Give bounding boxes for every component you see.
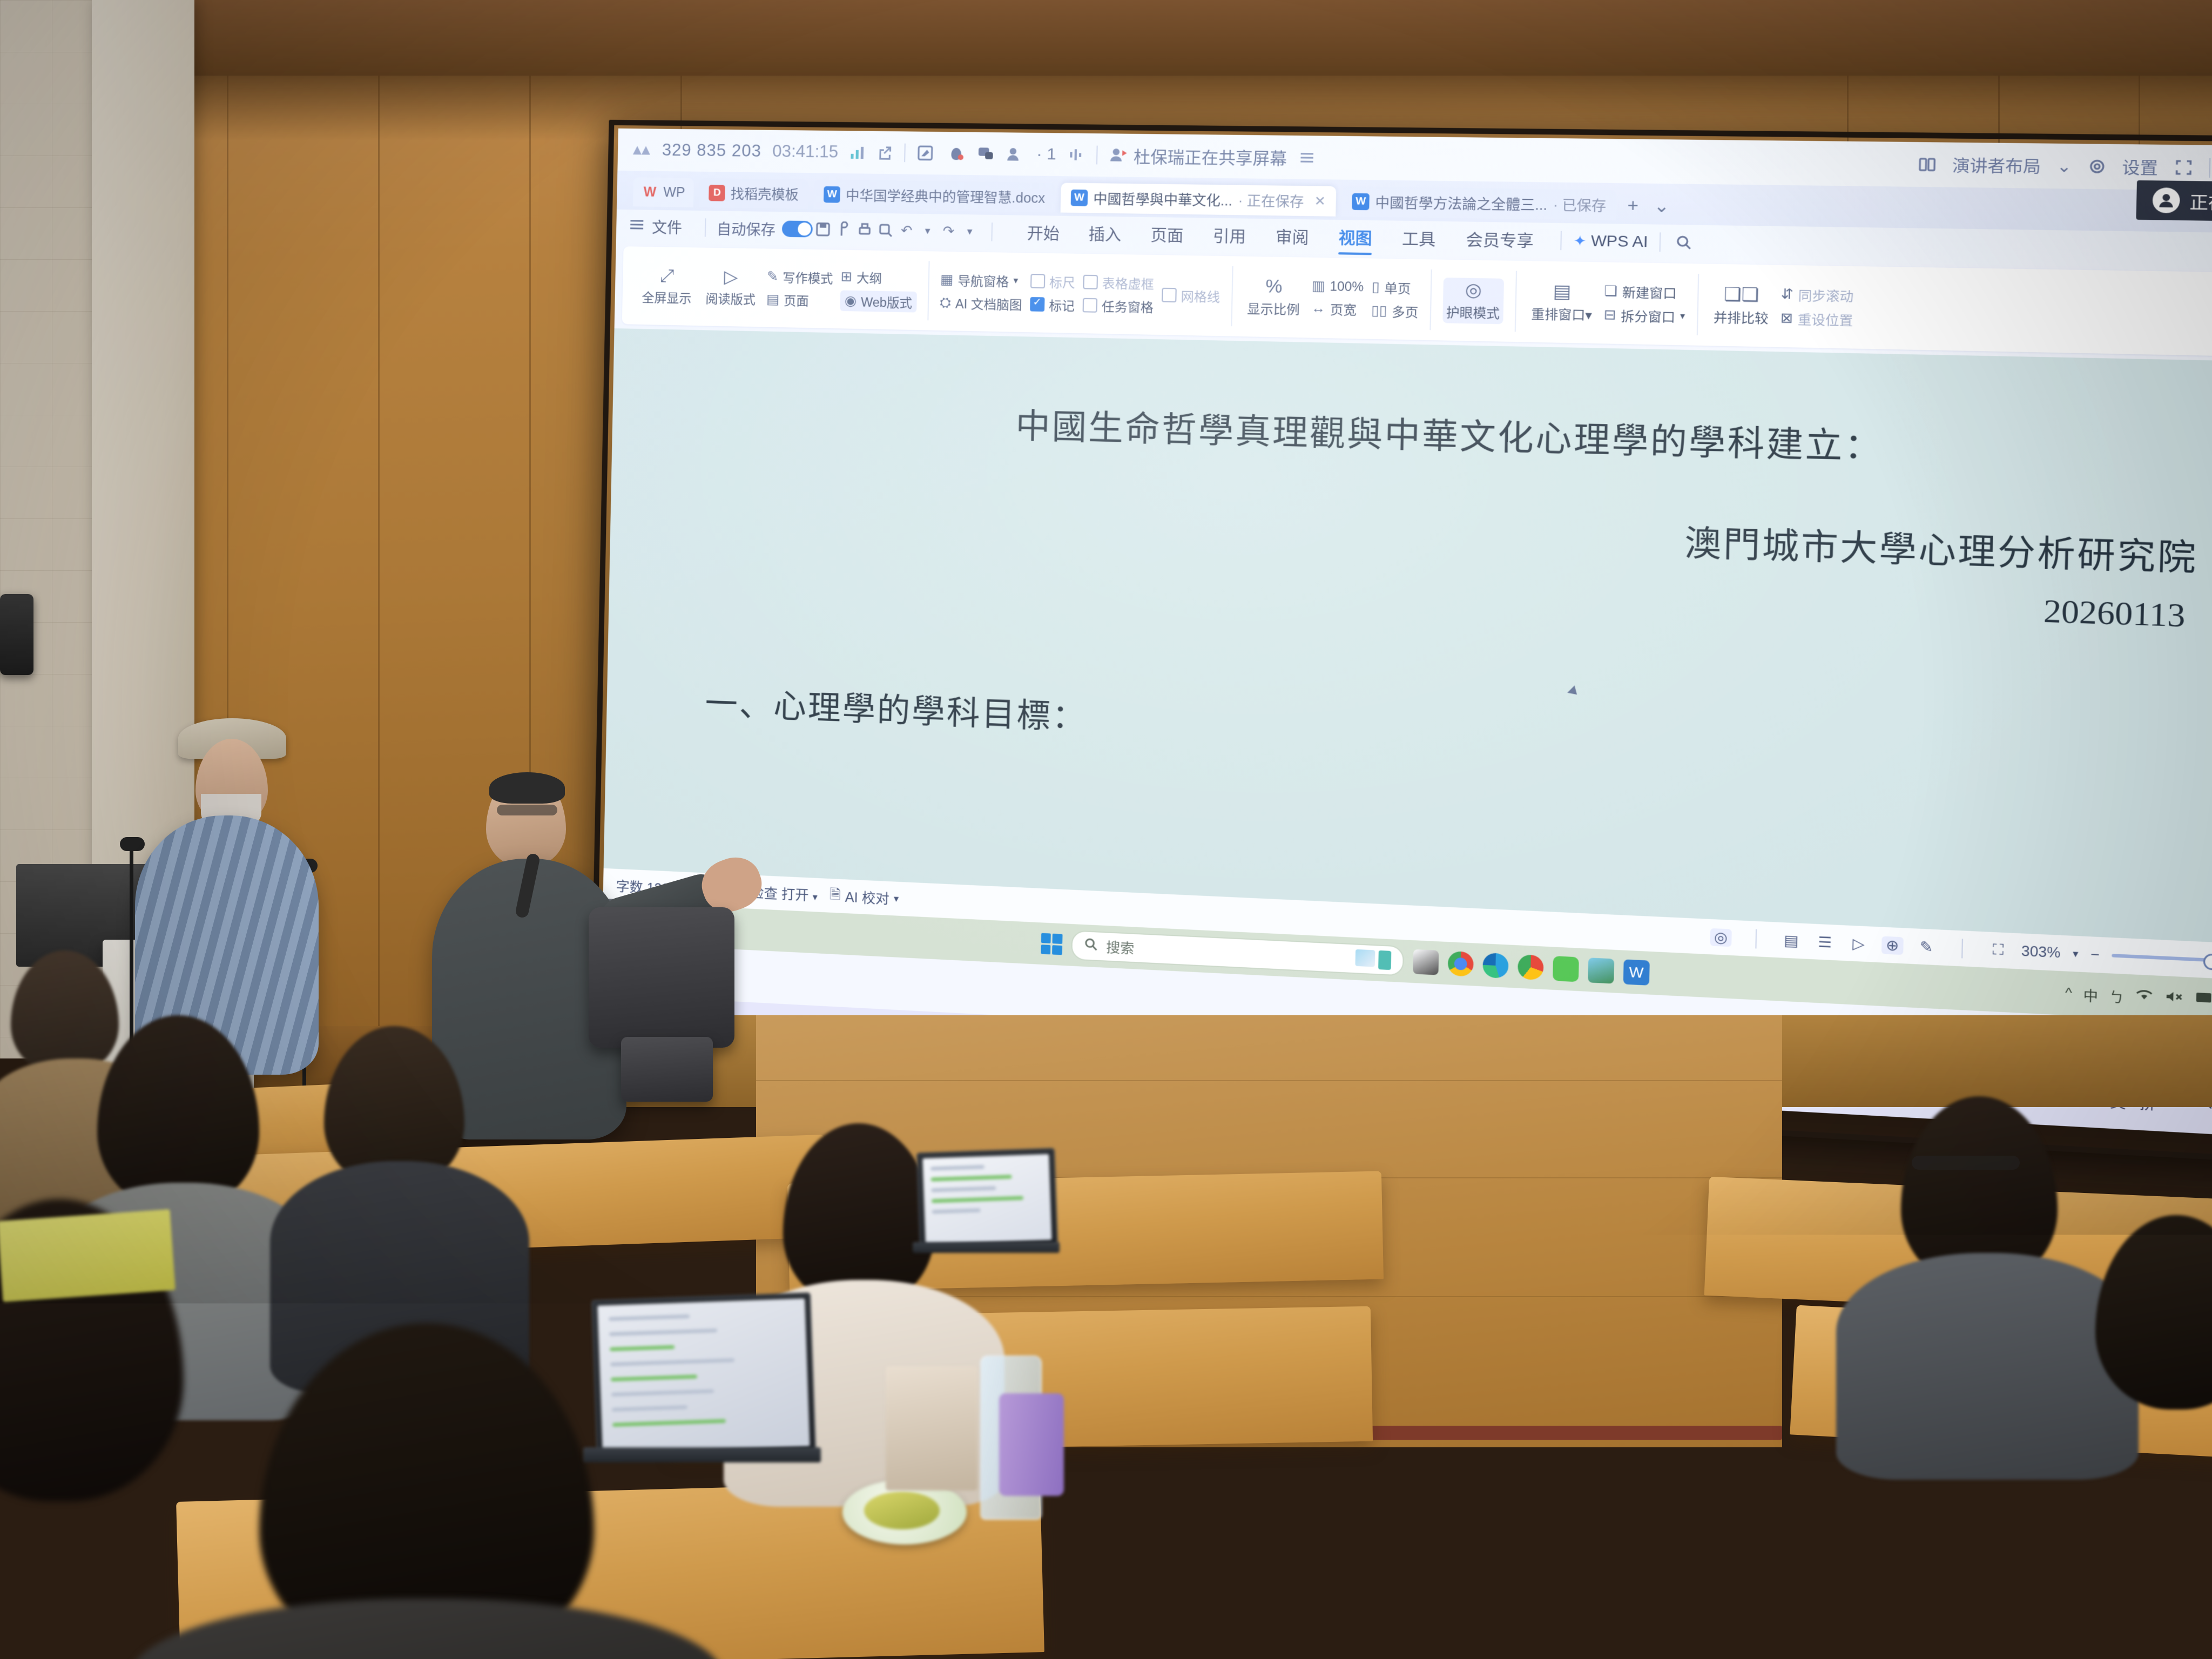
laptop (916, 1148, 1058, 1251)
file-explorer-icon[interactable] (1413, 949, 1439, 975)
chevron-down-icon: ▾ (1013, 275, 1018, 287)
tab-view[interactable]: 视图 (1324, 225, 1387, 249)
chevron-down-icon[interactable]: ▾ (917, 221, 939, 240)
ribbon-tabs: 开始 插入 页面 引用 审阅 视图 工具 会员专享 (1013, 221, 1549, 252)
ribbon-group-zoom: % 显示比例 ▥ 100% ↔ 页宽 (1234, 261, 1428, 336)
eyeglasses (1912, 1156, 2020, 1170)
wps-ai-label: WPS AI (1591, 232, 1648, 251)
wood-seam (378, 76, 380, 1053)
chevron-down-icon: ▾ (812, 892, 818, 903)
whiteboard-icon[interactable] (916, 144, 935, 162)
focus-icon[interactable]: ⛶ (1987, 940, 2009, 960)
tray-expand-icon[interactable]: ^ (2065, 985, 2072, 1002)
tab-docer-template[interactable]: D 找稻壳模板 (699, 178, 809, 209)
nav-pane-icon: ▦ (940, 271, 954, 288)
brush-icon[interactable]: ✎ (1915, 938, 1937, 956)
onehundred-icon: ▥ (1312, 278, 1326, 294)
tab-document-2-active[interactable]: W 中國哲學與中華文化... · 正在保存 ✕ (1061, 183, 1337, 216)
button-label: 重排窗口▾ (1531, 303, 1592, 323)
projection-screen: 329 835 203 03:41:15 (600, 129, 2212, 1140)
divider (1961, 939, 1963, 958)
page-width-icon: ↔ (1311, 300, 1326, 316)
system-tray: ^ 中 ㄅ 17:26 2026/1/13 (2065, 979, 2212, 1020)
tab-reference[interactable]: 引用 (1198, 224, 1261, 248)
divider (1560, 231, 1562, 251)
writing-mode-button[interactable]: ✎ 写作模式 (767, 267, 833, 287)
laptop-base (913, 1242, 1060, 1253)
ribbon-group-show-hide: ▦ 导航窗格 ▾ ⛭ AI 文档脑图 标尺 (930, 255, 1230, 332)
page-width-button[interactable]: ↔ 页宽 (1311, 299, 1364, 319)
fullscreen-display-button[interactable]: ⤢ 全屏显示 (638, 264, 696, 308)
mindmap-icon: ⛭ (940, 294, 951, 311)
button-label: 多页 (1392, 301, 1419, 321)
zoom-out-button[interactable]: − (2090, 946, 2100, 963)
tab-label: WP (663, 184, 685, 200)
laptop-base (583, 1447, 821, 1462)
tableborder-taskpane-column: 表格虚框 任务窗格 (1082, 273, 1154, 316)
tab-save-state: · 已保存 (1553, 194, 1606, 215)
tab-document-3[interactable]: W 中國哲學方法論之全體三... · 已保存 (1341, 186, 1617, 220)
button-label: 页面 (784, 291, 809, 309)
chevron-down-icon[interactable]: ⌄ (1649, 195, 1675, 217)
close-icon[interactable]: ✕ (1314, 193, 1326, 209)
snack (864, 1492, 940, 1529)
new-window-icon: ❏ (1604, 282, 1617, 300)
button-label: 写作模式 (783, 267, 833, 287)
display-icon[interactable] (2194, 990, 2212, 1009)
single-page-button[interactable]: ▯ 单页 (1372, 278, 1419, 298)
lecture-hall-scene: 329 835 203 03:41:15 (0, 0, 2212, 1659)
split-window-button[interactable]: ⊟ 拆分窗口 ▾ (1603, 305, 1685, 326)
reading-layout-icon: ▷ (724, 267, 738, 286)
zoom-slider[interactable] (2112, 954, 2212, 964)
speaker-avatar-icon (2152, 187, 2180, 213)
writing-page-column: ✎ 写作模式 ▤ 页面 (766, 267, 833, 310)
chair (589, 907, 734, 1048)
zoom-slider-knob[interactable] (2203, 953, 2212, 970)
hamburger-icon (630, 218, 646, 235)
ime-shape-indicator[interactable]: ㄅ (2109, 985, 2124, 1006)
split-window-icon: ⊟ (1603, 306, 1616, 323)
edge-icon[interactable] (1482, 953, 1508, 979)
divider (1096, 146, 1098, 165)
web-view-icon[interactable]: ⊕ (1881, 936, 1904, 955)
tab-tools[interactable]: 工具 (1387, 226, 1451, 251)
singlepage-multipage-column: ▯ 单页 ▯▯ 多页 (1371, 278, 1419, 321)
popout-icon[interactable] (876, 144, 893, 161)
syncscroll-reset-column: ⇵ 同步滚动 ⊠ 重设位置 (1780, 285, 1853, 329)
zoom-100-button[interactable]: ▥ 100% (1312, 278, 1364, 295)
fullscreen-icon[interactable] (2174, 159, 2193, 177)
rearrange-windows-button[interactable]: ▤ 重排窗口▾ (1528, 279, 1596, 326)
document-title: 中國生命哲學真理觀與中華文化心理學的學科建立： (677, 390, 2212, 480)
button-label: 导航窗格 (957, 271, 1009, 290)
ribbon-group-eye-protection: ◎ 护眼模式 (1433, 264, 1513, 338)
divider (1660, 232, 1661, 252)
ai-sparkle-icon: ✦ (1573, 232, 1586, 250)
tab-member[interactable]: 会员专享 (1451, 227, 1549, 253)
autosave-label: 自动保存 (717, 217, 776, 239)
docer-icon: D (709, 185, 725, 201)
web-layout-icon: ◉ (845, 293, 857, 309)
page-icon: ▤ (766, 291, 779, 308)
new-tab-button[interactable]: + (1622, 195, 1643, 216)
checkbox-label: 标记 (1049, 295, 1075, 315)
widget-icon[interactable] (1378, 950, 1391, 970)
ribbon-group-compare: ❏❏ 并排比较 ⇵ 同步滚动 ⊠ 重设位置 (1700, 268, 1864, 345)
task-pane-checkbox[interactable]: 任务窗格 (1082, 296, 1154, 316)
ime-mode-indicator[interactable]: 中 (2083, 984, 2098, 1005)
gridline-column: 网格线 (1162, 286, 1220, 306)
speaking-label: 正在讲话: (2189, 188, 2212, 214)
tissue-box (886, 1366, 977, 1491)
news-icon[interactable] (1355, 949, 1375, 967)
button-label: 重设位置 (1798, 309, 1853, 329)
meeting-duration: 03:41:15 (772, 141, 839, 162)
tab-page[interactable]: 页面 (1136, 222, 1198, 247)
button-label: 并排比较 (1714, 306, 1769, 327)
participant-count: · 1 (1036, 145, 1056, 164)
settings-button-label[interactable]: 设置 (2122, 154, 2158, 179)
eye-icon[interactable]: ◎ (1710, 928, 1731, 946)
search-placeholder: 搜索 (1106, 937, 1135, 958)
markup-checkbox[interactable]: 标记 (1030, 295, 1075, 314)
checkbox-icon (1030, 274, 1045, 288)
new-window-button[interactable]: ❏ 新建窗口 (1604, 281, 1685, 302)
button-label: AI 文档脑图 (955, 293, 1022, 313)
page-view-icon[interactable]: ▤ (1781, 931, 1803, 950)
search-icon (1083, 936, 1098, 955)
wechat-icon[interactable] (1553, 956, 1579, 982)
checkbox-icon (1162, 288, 1177, 302)
multi-page-icon: ▯▯ (1371, 302, 1387, 319)
wps-office-window: W WP D 找稻壳模板 W 中华国学经典中的管理智慧.docx W 中國哲學與… (602, 171, 2212, 1056)
checkbox-icon (1083, 275, 1098, 289)
print-preview-icon[interactable] (833, 220, 854, 239)
gridlines-checkbox[interactable]: 网格线 (1162, 286, 1220, 306)
reading-layout-button[interactable]: ▷ 阅读版式 (702, 265, 759, 309)
tab-label: 中國哲學方法論之全體三... (1375, 192, 1547, 214)
chevron-down-icon: ▾ (894, 893, 899, 905)
button-label: 拆分窗口 (1621, 306, 1675, 326)
document-heading-1: 一、心理學的學科目標： (671, 676, 2212, 784)
button-label: 阅读版式 (705, 288, 756, 307)
word-doc-icon: W (1071, 190, 1088, 206)
tab-start[interactable]: 开始 (1013, 221, 1075, 245)
toggle-switch[interactable] (782, 220, 813, 237)
side-by-side-button[interactable]: ❏❏ 并排比较 (1710, 282, 1773, 329)
reset-position-icon: ⊠ (1781, 309, 1793, 327)
participants-icon[interactable] (1006, 145, 1026, 163)
laptop-screen (597, 1298, 810, 1453)
word-doc-icon: W (824, 186, 840, 203)
chat-icon[interactable] (976, 145, 996, 163)
browser-icon[interactable] (1518, 954, 1544, 980)
divider (1514, 271, 1517, 332)
pen-icon: ✎ (767, 268, 779, 285)
reset-position-button[interactable]: ⊠ 重设位置 (1780, 308, 1853, 329)
gear-icon[interactable] (2087, 158, 2106, 176)
fullscreen-icon: ⤢ (660, 266, 675, 285)
divider (2209, 158, 2210, 178)
customize-icon[interactable]: ▾ (959, 222, 981, 241)
autosave-toggle[interactable]: 自动保存 (717, 217, 813, 240)
wifi-icon[interactable] (2135, 988, 2154, 1007)
eye-icon: ◎ (1465, 280, 1482, 299)
outline-button[interactable]: ⊞ 大纲 (840, 267, 917, 287)
button-label: 同步滚动 (1798, 285, 1854, 305)
paper-sheet (1997, 1367, 2183, 1425)
button-label: 页宽 (1330, 299, 1357, 319)
percent-icon: % (1265, 276, 1283, 295)
outline-view-icon[interactable]: ☰ (1814, 933, 1836, 952)
chevron-down-icon[interactable]: ⌄ (2056, 156, 2072, 177)
divider (904, 144, 906, 163)
save-icon[interactable] (812, 220, 833, 239)
volume-mute-icon[interactable] (2164, 989, 2183, 1008)
divider (1697, 274, 1700, 335)
more-icon[interactable] (1298, 150, 1316, 165)
rearrange-icon: ▤ (1553, 281, 1572, 300)
ai-proofread-button[interactable]: 🗎 AI 校对 ▾ (829, 884, 899, 911)
tab-document-1[interactable]: W 中华国学经典中的管理智慧.docx (814, 180, 1056, 213)
chevron-down-icon: ▾ (1585, 307, 1592, 322)
button-label: 新建窗口 (1622, 282, 1677, 302)
button-label: 护眼模式 (1446, 301, 1500, 321)
divider (1755, 929, 1757, 949)
divider (1231, 266, 1233, 326)
chevron-down-icon[interactable]: ▾ (2073, 948, 2079, 960)
document-canvas[interactable]: 中國生命哲學真理觀與中華文化心理學的學科建立： 澳門城市大學心理分析研究院 20… (604, 328, 2212, 947)
file-menu-label: 文件 (652, 216, 683, 238)
redo-icon[interactable]: ↷ (938, 222, 960, 241)
divider (1429, 269, 1432, 330)
checkbox-label: 表格虚框 (1102, 273, 1155, 293)
button-label: Web版式 (861, 292, 912, 311)
outline-web-column: ⊞ 大纲 ◉ Web版式 (840, 267, 917, 313)
document-page[interactable]: 中國生命哲學真理觀與中華文化心理學的學科建立： 澳門城市大學心理分析研究院 20… (604, 328, 2212, 947)
chair-seat (621, 1037, 713, 1102)
eye-protection-button[interactable]: ◎ 护眼模式 (1442, 277, 1504, 323)
speaking-indicator: 正在讲话: meet; (2136, 180, 2212, 222)
button-label: 显示比例 (1247, 298, 1300, 318)
tab-label: 找稻壳模板 (731, 184, 799, 204)
find-icon[interactable] (875, 221, 896, 240)
checkbox-icon (1082, 298, 1097, 313)
meeting-logo-icon (632, 143, 651, 157)
tab-wps-home[interactable]: W WP (633, 177, 694, 207)
multi-page-button[interactable]: ▯▯ 多页 (1371, 301, 1419, 321)
meeting-id: 329 835 203 (662, 140, 762, 161)
newwindow-split-column: ❏ 新建窗口 ⊟ 拆分窗口 ▾ (1603, 281, 1685, 326)
divider (705, 218, 706, 237)
travel-flask (2047, 1415, 2128, 1572)
wall-speaker (0, 594, 33, 675)
file-menu[interactable]: 文件 (630, 215, 694, 238)
hundred-pagewidth-column: ▥ 100% ↔ 页宽 (1311, 278, 1364, 319)
tab-label: 中國哲學與中華文化... (1093, 188, 1232, 210)
raise-hand-icon[interactable] (946, 145, 966, 163)
word-doc-icon: W (1352, 193, 1370, 211)
wps-logo-icon: W (642, 184, 658, 200)
navigation-pane-button[interactable]: ▦ 导航窗格 ▾ (940, 270, 1023, 290)
button-label: 单页 (1384, 278, 1411, 297)
button-label: 全屏显示 (642, 287, 692, 306)
table-gridlines-checkbox[interactable]: 表格虚框 (1083, 273, 1154, 293)
microphone-head (120, 837, 145, 851)
ruler-checkbox[interactable]: 标尺 (1030, 272, 1076, 291)
signal-bars-icon[interactable] (849, 144, 866, 161)
nav-ai-column: ▦ 导航窗格 ▾ ⛭ AI 文档脑图 (940, 270, 1023, 313)
sync-scroll-icon: ⇵ (1781, 286, 1793, 303)
divider (927, 261, 929, 321)
sync-scroll-button[interactable]: ⇵ 同步滚动 (1781, 285, 1853, 305)
wps-icon[interactable]: W (1623, 959, 1650, 985)
print-icon[interactable] (854, 220, 875, 239)
presentation-icon[interactable]: ▷ (1847, 934, 1870, 953)
ai-mindmap-button[interactable]: ⛭ AI 文档脑图 (940, 293, 1022, 313)
tab-label: 中华国学经典中的管理智慧.docx (846, 185, 1046, 207)
divider (991, 222, 993, 241)
chevron-down-icon: ▾ (1680, 311, 1685, 322)
audio-wave-icon[interactable] (1067, 146, 1085, 163)
laptop (591, 1292, 816, 1460)
windows-start-icon[interactable] (1041, 933, 1062, 955)
search-icon[interactable] (1673, 233, 1695, 252)
layout-icon[interactable] (1918, 157, 1937, 173)
sharing-notice-text: 杜保瑞正在共享屏幕 (1134, 143, 1287, 170)
undo-icon[interactable]: ↶ (896, 221, 918, 240)
tab-save-state: · 正在保存 (1238, 190, 1304, 211)
ruler-mark-column: 标尺 标记 (1030, 272, 1075, 314)
laptop-screen (922, 1154, 1051, 1244)
side-by-side-icon: ❏❏ (1724, 284, 1759, 304)
button-label: 大纲 (857, 268, 882, 287)
ribbon-group-window: ▤ 重排窗口▾ ❏ 新建窗口 ⊟ 拆分窗口 ▾ (1518, 265, 1696, 341)
yellow-notebook (0, 1209, 176, 1302)
zoom-ratio-button[interactable]: % 显示比例 (1244, 274, 1304, 320)
eyeglasses (497, 805, 557, 815)
wps-ai-button[interactable]: ✦ WPS AI (1573, 232, 1648, 251)
button-label: 100% (1330, 279, 1364, 294)
zoom-level: 303% (2021, 943, 2061, 961)
single-page-icon: ▯ (1372, 279, 1380, 295)
ai-proof-icon: 🗎 (829, 884, 841, 908)
checkbox-label: 网格线 (1181, 286, 1220, 305)
search-input[interactable]: 搜索 (1071, 930, 1404, 976)
layout-button-label[interactable]: 演讲者布局 (1952, 153, 2041, 178)
wall-shadow (162, 76, 2212, 140)
page-layout-button[interactable]: ▤ 页面 (766, 290, 833, 310)
presenter-2-hair (489, 772, 565, 804)
share-screen-icon (1109, 147, 1128, 164)
photos-icon[interactable] (1588, 957, 1614, 983)
sharing-notice: 杜保瑞正在共享屏幕 (1109, 143, 1287, 170)
drink-cup (999, 1393, 1064, 1496)
checkbox-label: 任务窗格 (1102, 296, 1154, 316)
ribbon-group-view-modes: ⤢ 全屏显示 ▷ 阅读版式 ✎ 写作模式 ▤ 页面 (630, 251, 927, 326)
checkbox-label: 标尺 (1049, 272, 1075, 292)
web-layout-button[interactable]: ◉ Web版式 (840, 290, 916, 312)
outline-icon: ⊞ (840, 268, 852, 285)
checkbox-checked-icon (1030, 297, 1044, 312)
chrome-icon[interactable] (1447, 951, 1473, 977)
tab-insert[interactable]: 插入 (1074, 221, 1136, 246)
tab-review[interactable]: 审阅 (1260, 224, 1324, 248)
